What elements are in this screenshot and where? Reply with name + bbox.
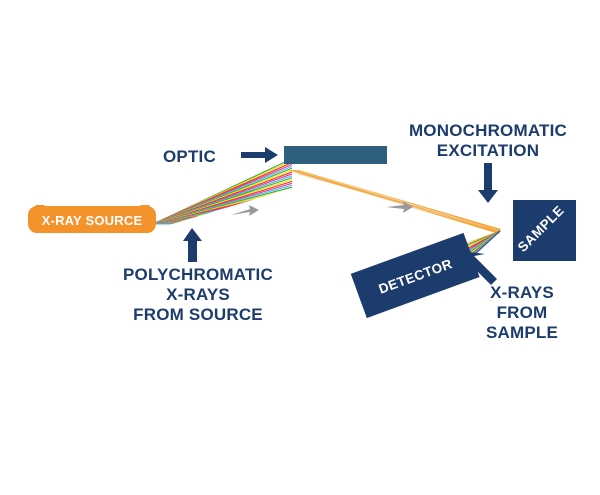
xray-source-block[interactable]: X-RAY SOURCE (28, 205, 156, 233)
sample-xrays-label-line-3: SAMPLE (486, 323, 558, 342)
diagram-svg: DETECTOR SAMPLE X-RAY SOURCE OPTIC (0, 0, 600, 495)
monochromatic-label-line-2: EXCITATION (437, 141, 539, 160)
polychromatic-annotation: POLYCHROMATIC X-RAYS FROM SOURCE (123, 228, 273, 324)
polychromatic-arrow-up-icon (183, 228, 202, 262)
polychromatic-label-line-2: X-RAYS (166, 285, 230, 304)
flow-arrow-1-icon (231, 205, 259, 216)
optic-label: OPTIC (163, 147, 216, 166)
detector-block[interactable]: DETECTOR (351, 233, 480, 318)
monochromatic-label-line-1: MONOCHROMATIC (409, 121, 567, 140)
sample-xrays-annotation: X-RAYS FROM SAMPLE (461, 251, 558, 342)
xray-source-label: X-RAY SOURCE (42, 213, 143, 228)
monochromatic-beam (289, 168, 501, 234)
monochromatic-annotation: MONOCHROMATIC EXCITATION (409, 121, 567, 203)
optic-arrow-right-icon (241, 147, 278, 163)
sample-xrays-label-line-1: X-RAYS (490, 283, 554, 302)
diagram-canvas: DETECTOR SAMPLE X-RAY SOURCE OPTIC (0, 0, 600, 495)
monochromatic-arrow-down-icon (478, 163, 498, 203)
sample-xrays-label-line-2: FROM (497, 303, 548, 322)
optic-block[interactable] (284, 146, 387, 164)
sample-block[interactable]: SAMPLE (513, 200, 576, 261)
polychromatic-label-line-3: FROM SOURCE (133, 305, 263, 324)
optic-annotation: OPTIC (163, 147, 278, 166)
polychromatic-label-line-1: POLYCHROMATIC (123, 265, 273, 284)
